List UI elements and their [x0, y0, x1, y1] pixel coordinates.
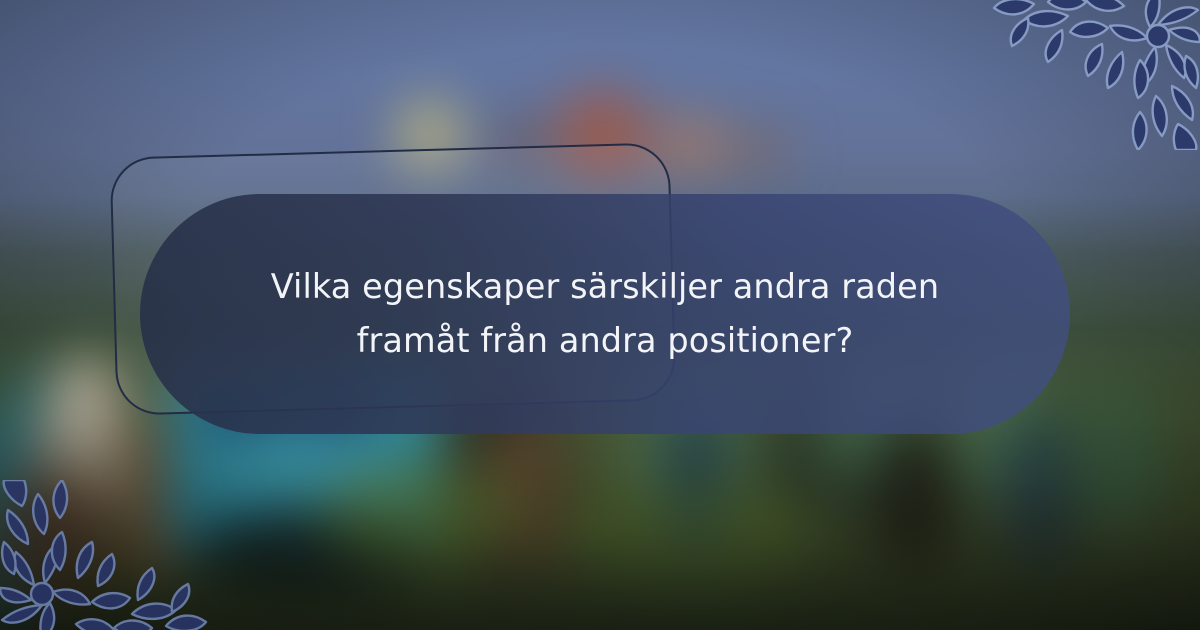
damask-corner-ornament-top-right	[990, 0, 1200, 150]
question-line-1: Vilka egenskaper särskiljer andra raden	[200, 260, 1010, 314]
social-card-image: Vilka egenskaper särskiljer andra raden …	[0, 0, 1200, 630]
question-line-2: framåt från andra positioner?	[200, 314, 1010, 368]
damask-corner-ornament-bottom-left	[0, 480, 210, 630]
question-text: Vilka egenskaper särskiljer andra raden …	[140, 260, 1070, 369]
question-card: Vilka egenskaper särskiljer andra raden …	[140, 194, 1070, 434]
